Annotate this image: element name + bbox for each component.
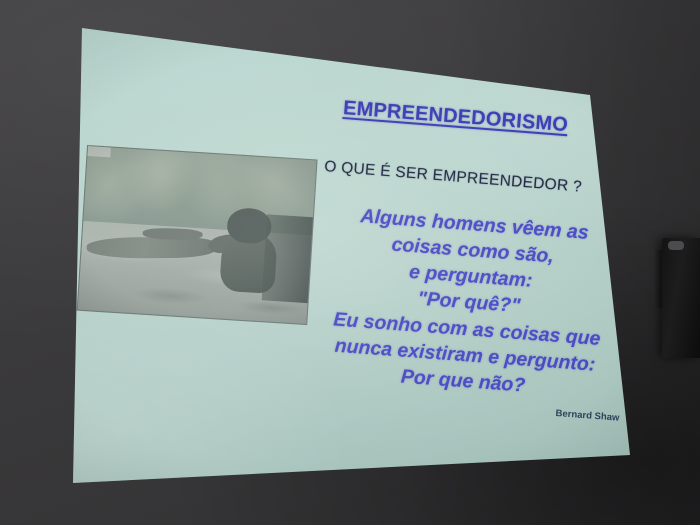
photo-ground [78, 221, 312, 324]
projection-scene: EMPREENDEDORISMO O QUE É SER EMPREENDEDO… [0, 0, 700, 525]
quote-line: Eu sonho com as coisas que [308, 304, 625, 353]
photo-branch [142, 228, 202, 241]
wall-shading-falloff [0, 0, 700, 525]
photo-fallen-log [86, 237, 214, 259]
slide-photo [78, 146, 317, 324]
quote-line: e perguntam: [312, 252, 629, 301]
photo-trees [78, 146, 317, 324]
projected-slide: EMPREENDEDORISMO O QUE É SER EMPREENDEDO… [0, 0, 700, 525]
slide-quote: Alguns homens vêem as coisas como são, e… [305, 200, 634, 406]
photo-person-arm [207, 233, 246, 256]
photo-person-head [227, 207, 273, 244]
right-edge-object [662, 238, 700, 358]
quote-line: Alguns homens vêem as [316, 200, 633, 249]
photo-watermark [87, 146, 110, 157]
quote-line: "Por quê?" [310, 278, 627, 327]
slide-background-grain [0, 0, 700, 525]
photo-edge-fade [78, 146, 317, 324]
slide-title: EMPREENDEDORISMO [342, 97, 603, 140]
photo-projection-tint [78, 146, 317, 324]
slide-vignette [0, 0, 700, 525]
quote-line: coisas como são, [314, 226, 631, 275]
slide-background [0, 0, 700, 525]
wall-shading-highlight [0, 0, 700, 525]
projector-bloom [0, 0, 700, 525]
quote-attribution: Bernard Shaw [555, 408, 620, 424]
quote-line: nunca existiram e pergunto: [307, 330, 624, 379]
right-object-knob [668, 241, 684, 250]
slide-question: O QUE É SER EMPREENDEDOR ? [324, 158, 615, 199]
quote-line: Por que não? [305, 356, 622, 405]
photo-sky [78, 146, 317, 324]
photo-ground-texture [78, 221, 312, 324]
photo-right-shadow [262, 215, 313, 303]
slide-content: EMPREENDEDORISMO O QUE É SER EMPREENDEDO… [0, 0, 700, 525]
photo-person-body [219, 232, 278, 294]
